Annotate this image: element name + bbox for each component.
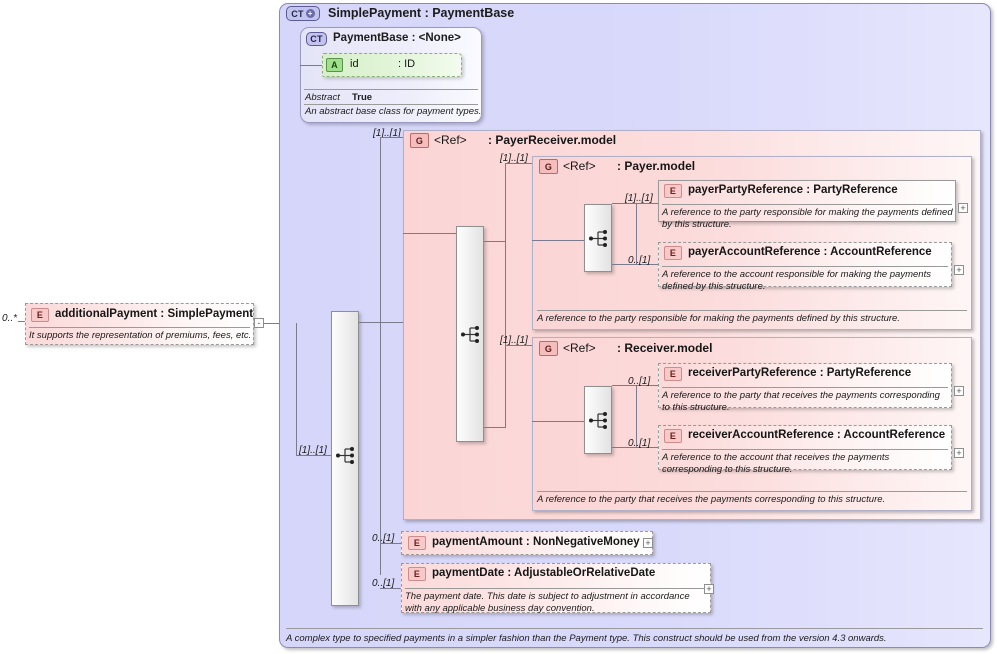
element-title-payeraccountreference: payerAccountReference : AccountReference <box>688 246 932 258</box>
group-ref-label-payerreceiver: <Ref> <box>434 133 467 147</box>
element-title-paymentdate: paymentDate : AdjustableOrRelativeDate <box>432 567 655 579</box>
group-ref-label-payer: <Ref> <box>563 159 596 173</box>
attr-connector-line <box>300 65 322 66</box>
group-doc-payer: A reference to the party responsible for… <box>537 313 967 325</box>
payerreceiver-branch-spine <box>505 241 506 427</box>
payerreceiver-branch-stub-bottom <box>484 427 506 428</box>
root-footer-rule <box>286 628 983 629</box>
group-badge-icon-payer: G <box>539 159 558 174</box>
additionalpayment-right-line <box>264 323 279 324</box>
collapse-toggle-additionalpayment[interactable]: - <box>254 318 264 328</box>
paymentbase-rule-top <box>304 89 478 90</box>
element-badge-icon-payeraccountreference: E <box>664 246 682 260</box>
element-badge-icon-receiverpartyreference: E <box>664 367 682 381</box>
group-badge-icon-receiver: G <box>539 341 558 356</box>
attribute-type: : ID <box>398 58 415 70</box>
element-doc-additionalpayment: It supports the representation of premiu… <box>29 330 254 342</box>
element-title-payerpartyreference: payerPartyReference : PartyReference <box>688 184 898 196</box>
paymentbase-title: PaymentBase : <None> <box>333 32 461 44</box>
cardinality-paymentamount: 0..[1] <box>372 533 394 544</box>
payeraccountreference-rule <box>662 266 948 267</box>
group-title-payer: <Ref> : Payer.model <box>563 159 695 173</box>
attribute-box-id[interactable] <box>322 53 462 77</box>
root-footer-doc: A complex type to specified payments in … <box>286 633 983 645</box>
expand-plus-icon[interactable]: + <box>306 9 315 18</box>
group-title-receiver: <Ref> : Receiver.model <box>563 341 712 355</box>
payer-footer-rule <box>537 310 967 311</box>
element-title-paymentamount: paymentAmount : NonNegativeMoney <box>432 536 640 548</box>
paymentbase-badge-icon: CT <box>306 32 327 46</box>
element-badge-icon-paymentamount: E <box>408 536 426 550</box>
expand-toggle-payerpartyreference[interactable]: + <box>958 203 968 213</box>
element-badge-icon-paymentdate: E <box>408 567 426 581</box>
group-title-payerreceiver: <Ref> : PayerReceiver.model <box>434 133 616 147</box>
element-title-receiverpartyreference: receiverPartyReference : PartyReference <box>688 367 911 379</box>
payerreceiver-branch-stub-top <box>484 241 506 242</box>
root-branch-entry-payerreceiver <box>380 137 403 138</box>
receiveraccountreference-rule <box>662 449 948 450</box>
cardinality-paymentdate: 0..[1] <box>372 578 394 589</box>
element-badge-icon-receiveraccountreference: E <box>664 429 682 443</box>
receiverpartyreference-rule <box>662 387 948 388</box>
element-badge-icon-additionalpayment: E <box>31 308 49 322</box>
receiver-sequence-inbound <box>532 421 584 422</box>
payer-sequence-inbound <box>532 240 584 241</box>
cardinality-root-sequence: [1]..[1] <box>299 445 327 456</box>
root-branch-stub-top <box>359 322 381 323</box>
element-doc-receiveraccountreference: A reference to the account that receives… <box>662 452 950 475</box>
expand-toggle-payeraccountreference[interactable]: + <box>954 265 964 275</box>
additionalpayment-rule <box>29 327 250 328</box>
element-title-receiveraccountreference: receiverAccountReference : AccountRefere… <box>688 429 945 441</box>
payerreceiver-sequence-inbound <box>403 233 456 234</box>
element-doc-payeraccountreference: A reference to the account responsible f… <box>662 269 950 292</box>
element-doc-payerpartyreference: A reference to the party responsible for… <box>662 207 954 230</box>
group-badge-icon-payerreceiver: G <box>410 133 429 148</box>
expand-toggle-paymentamount[interactable]: + <box>643 538 653 548</box>
cardinality-receiveraccountreference: 0..[1] <box>628 438 650 449</box>
expand-toggle-receiveraccountreference[interactable]: + <box>954 448 964 458</box>
group-name-payer: : Payer.model <box>617 159 695 173</box>
cardinality-receiverpartyreference: 0..[1] <box>628 376 650 387</box>
group-doc-receiver: A reference to the party that receives t… <box>537 494 967 506</box>
cardinality-receiver-group: [1]..[1] <box>500 335 528 346</box>
element-doc-receiverpartyreference: A reference to the party that receives t… <box>662 390 950 413</box>
cardinality-payeraccountreference: 0..[1] <box>628 255 650 266</box>
element-title-additionalpayment: additionalPayment : SimplePayment <box>55 308 253 320</box>
complex-type-badge-icon: CT+ <box>286 6 320 21</box>
root-branch-riser-payerreceiver <box>380 137 381 323</box>
paymentbase-doc: An abstract base class for payment types… <box>305 106 485 118</box>
xsd-diagram-canvas: CT+ SimplePayment : PaymentBase A comple… <box>0 0 997 654</box>
root-title: SimplePayment : PaymentBase <box>328 6 514 20</box>
group-name-receiver: : Receiver.model <box>617 341 712 355</box>
branch-riser-payer <box>505 163 506 242</box>
sequence-icon-root <box>336 446 356 465</box>
expand-toggle-paymentdate[interactable]: + <box>704 584 714 594</box>
root-sequence-drop-line <box>296 323 297 456</box>
element-badge-icon-payerpartyreference: E <box>664 184 682 198</box>
group-ref-label-receiver: <Ref> <box>563 341 596 355</box>
cardinality-payer-group: [1]..[1] <box>500 153 528 164</box>
paymentdate-rule <box>405 588 707 589</box>
root-branch-line-payerreceiver <box>380 322 403 323</box>
group-name-payerreceiver: : PayerReceiver.model <box>488 133 616 147</box>
element-doc-paymentdate: The payment date. This date is subject t… <box>405 591 703 614</box>
cardinality-payerpartyreference: [1]..[1] <box>625 193 653 204</box>
sequence-icon-receiver <box>589 411 609 430</box>
payerpartyreference-rule <box>662 204 952 205</box>
property-key-abstract: Abstract <box>305 92 340 103</box>
paymentbase-rule-mid <box>304 104 478 105</box>
cardinality-additionalpayment: 0..* <box>2 313 17 324</box>
expand-toggle-receiverpartyreference[interactable]: + <box>954 386 964 396</box>
sequence-icon-payer <box>589 229 609 248</box>
sequence-icon-payerreceiver <box>461 325 481 344</box>
receiver-footer-rule <box>537 491 967 492</box>
additionalpayment-left-stub <box>18 321 25 322</box>
attribute-badge-icon: A <box>326 58 343 72</box>
complex-type-badge-label: CT <box>291 9 303 19</box>
attribute-name: id <box>350 58 359 70</box>
property-value-abstract: True <box>352 92 372 103</box>
